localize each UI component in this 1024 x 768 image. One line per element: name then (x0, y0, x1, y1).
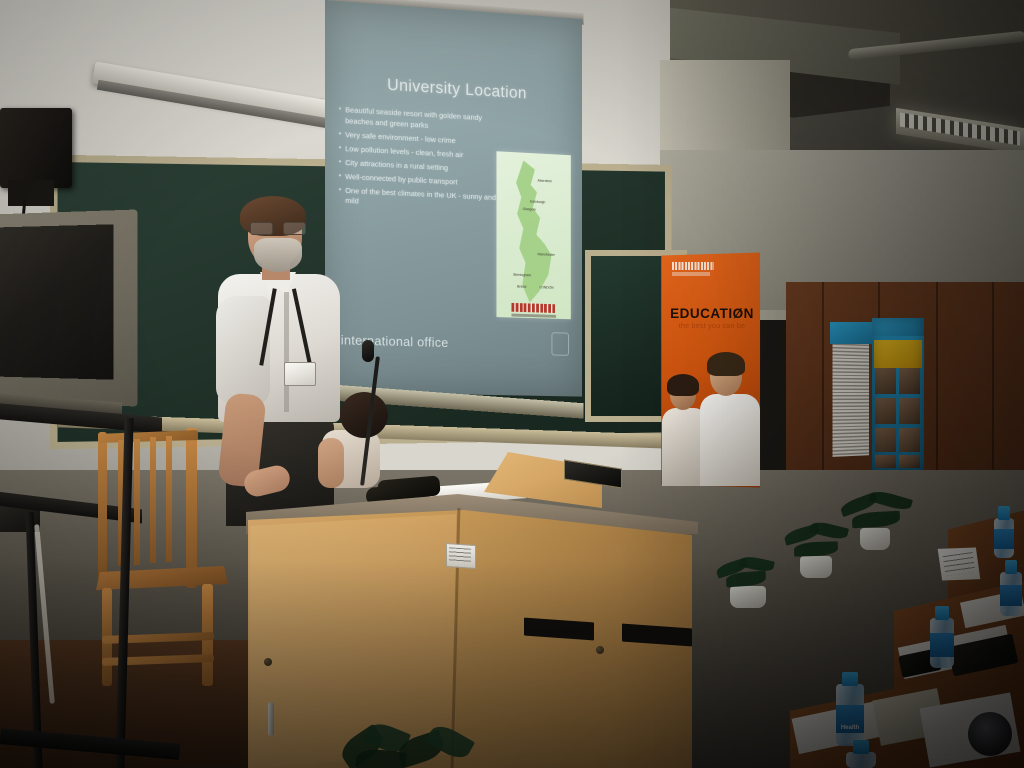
uk-map-image: Aberdeen Edinburgh Glasgow Manchester Bi… (496, 151, 570, 319)
bullet-marker: • (339, 143, 341, 154)
chair-slat (166, 436, 172, 562)
water-bottle (930, 606, 954, 668)
plant-pot (860, 528, 890, 550)
map-city-label: Birmingham (513, 273, 531, 278)
water-bottle (846, 740, 876, 768)
water-bottle: Health (836, 672, 864, 746)
map-city-label: Glasgow (523, 207, 536, 211)
lectern-screw (596, 646, 604, 654)
lectern-door-handle[interactable] (268, 702, 274, 736)
bournemouth-logo (511, 303, 556, 313)
poster-board-shadow (872, 318, 924, 470)
television-screen (0, 224, 114, 379)
water-bottle (994, 506, 1014, 558)
banner-person-body (700, 394, 760, 486)
plant-pot (800, 556, 832, 578)
map-city-label: Aberdeen (538, 179, 552, 184)
chair-slat (150, 437, 156, 563)
potted-plant (846, 496, 912, 554)
speaker-bracket (8, 180, 54, 206)
banner-tagline: the best you can be (666, 321, 758, 330)
slide-title: University Location (347, 73, 566, 105)
foreground-plant (340, 716, 490, 768)
lecture-room-photo: University Location • Beautiful seaside … (0, 0, 1024, 768)
potted-plant (724, 560, 770, 608)
magazine-graphic (968, 712, 1012, 756)
map-city-label: Bristol (517, 285, 526, 289)
place-card-text (943, 552, 975, 576)
presenter-id-badge (284, 362, 316, 386)
assistant-head (340, 392, 388, 438)
presenter-beard (254, 238, 302, 272)
water-bottle (1000, 560, 1022, 616)
lectern-lock[interactable] (264, 658, 272, 666)
banner-person-hair (707, 352, 745, 376)
bottle-label-text: Health (836, 725, 864, 731)
map-city-label: Edinburgh (530, 200, 545, 205)
bullet-marker: • (339, 171, 341, 182)
bullet-marker: • (339, 157, 341, 168)
presenter-shirt-placket (284, 292, 289, 412)
bullet-marker: • (339, 129, 341, 140)
wooden-chair (84, 428, 244, 686)
bullet-text: Well-connected by public transport (345, 172, 457, 188)
university-logo-icon (672, 262, 714, 270)
slide-crest-icon (551, 332, 569, 356)
chair-top-rail (98, 430, 198, 443)
bullet-text: One of the best climates in the UK - sun… (345, 185, 502, 213)
map-city-label: LONDON (539, 285, 553, 289)
microphone-capsule (362, 340, 374, 362)
banner-person-hair (667, 374, 699, 396)
glasses-icon (250, 222, 306, 233)
plant-pot (730, 586, 766, 608)
chair-slat (134, 439, 140, 565)
wall-speaker (0, 108, 72, 188)
banner-headline: EDUCATIØN (666, 306, 758, 321)
university-logo-subtitle (672, 272, 710, 276)
chair-back-post (186, 428, 197, 588)
bullet-marker: • (339, 105, 341, 126)
map-city-label: Manchester (538, 252, 555, 257)
leaflet-rack-header (830, 322, 874, 344)
chair-back-post (98, 432, 107, 582)
lectern-asset-label-text (449, 547, 471, 563)
potted-plant (790, 528, 850, 580)
leaflet-rack (832, 331, 869, 457)
bullet-text: City attractions in a rural setting (345, 158, 448, 174)
bournemouth-logo-subtitle (511, 314, 556, 318)
